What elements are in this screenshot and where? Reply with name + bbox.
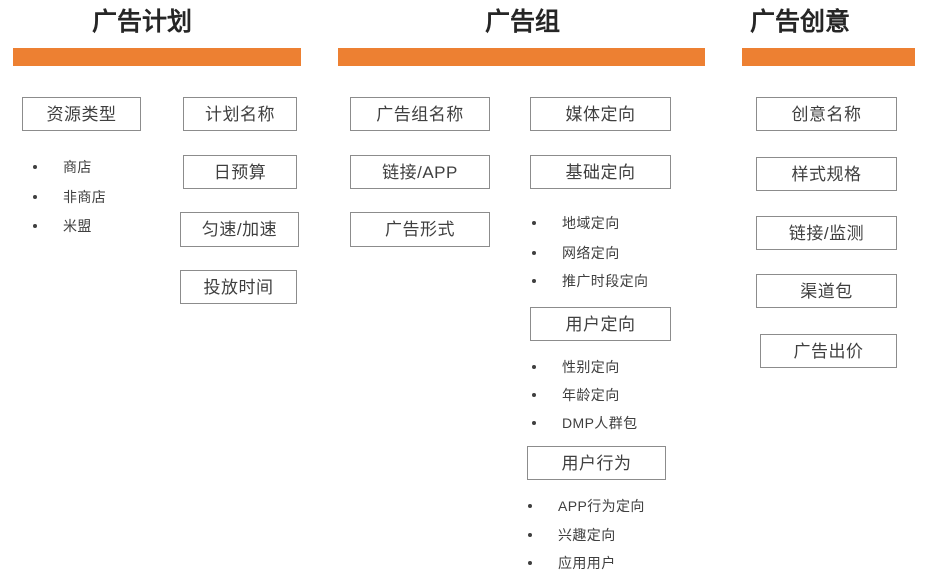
bullet-dot-icon	[528, 504, 532, 508]
node-box[interactable]: 用户行为	[527, 446, 666, 480]
diagram-canvas: 广告计划资源类型计划名称日预算匀速/加速投放时间商店非商店米盟广告组广告组名称链…	[0, 0, 927, 580]
accent-bar-ad-group	[338, 48, 705, 66]
bullet-item: 米盟	[33, 219, 92, 233]
bullet-label: 年龄定向	[562, 388, 620, 402]
bullet-label: 兴趣定向	[558, 528, 616, 542]
node-box[interactable]: 计划名称	[183, 97, 297, 131]
bullet-label: 网络定向	[562, 246, 620, 260]
bullet-dot-icon	[532, 221, 536, 225]
bullet-dot-icon	[528, 533, 532, 537]
node-box[interactable]: 匀速/加速	[180, 212, 299, 247]
bullet-dot-icon	[528, 561, 532, 565]
bullet-item: DMP人群包	[532, 416, 638, 430]
accent-bar-ad-plan	[13, 48, 301, 66]
bullet-item: 非商店	[33, 190, 106, 204]
node-box[interactable]: 链接/APP	[350, 155, 490, 189]
bullet-label: 应用用户	[558, 556, 616, 570]
node-box[interactable]: 渠道包	[756, 274, 897, 308]
bullet-dot-icon	[532, 251, 536, 255]
node-box[interactable]: 日预算	[183, 155, 297, 189]
bullet-item: 性别定向	[532, 360, 620, 374]
bullet-label: 米盟	[63, 219, 92, 233]
node-box[interactable]: 链接/监测	[756, 216, 897, 250]
bullet-dot-icon	[33, 195, 37, 199]
column-title-ad-plan: 广告计划	[92, 10, 192, 35]
bullet-label: 推广时段定向	[562, 274, 648, 288]
bullet-dot-icon	[532, 421, 536, 425]
bullet-label: DMP人群包	[562, 416, 638, 430]
node-box[interactable]: 媒体定向	[530, 97, 671, 131]
bullet-label: 地域定向	[562, 216, 620, 230]
bullet-dot-icon	[33, 165, 37, 169]
bullet-label: 性别定向	[562, 360, 620, 374]
bullet-item: 年龄定向	[532, 388, 620, 402]
node-box[interactable]: 样式规格	[756, 157, 897, 191]
bullet-label: 非商店	[63, 190, 106, 204]
bullet-dot-icon	[33, 224, 37, 228]
bullet-item: APP行为定向	[528, 499, 645, 513]
node-box[interactable]: 资源类型	[22, 97, 141, 131]
bullet-label: APP行为定向	[558, 499, 645, 513]
column-title-ad-group: 广告组	[485, 10, 560, 35]
accent-bar-ad-creative	[742, 48, 915, 66]
bullet-dot-icon	[532, 393, 536, 397]
bullet-dot-icon	[532, 365, 536, 369]
column-title-ad-creative: 广告创意	[750, 10, 850, 35]
node-box[interactable]: 投放时间	[180, 270, 297, 304]
node-box[interactable]: 基础定向	[530, 155, 671, 189]
node-box[interactable]: 广告出价	[760, 334, 897, 368]
node-box[interactable]: 广告形式	[350, 212, 490, 247]
bullet-item: 商店	[33, 160, 92, 174]
bullet-item: 兴趣定向	[528, 528, 616, 542]
bullet-dot-icon	[532, 279, 536, 283]
node-box[interactable]: 创意名称	[756, 97, 897, 131]
bullet-label: 商店	[63, 160, 92, 174]
node-box[interactable]: 用户定向	[530, 307, 671, 341]
bullet-item: 网络定向	[532, 246, 620, 260]
bullet-item: 推广时段定向	[532, 274, 648, 288]
bullet-item: 应用用户	[528, 556, 616, 570]
bullet-item: 地域定向	[532, 216, 620, 230]
node-box[interactable]: 广告组名称	[350, 97, 490, 131]
